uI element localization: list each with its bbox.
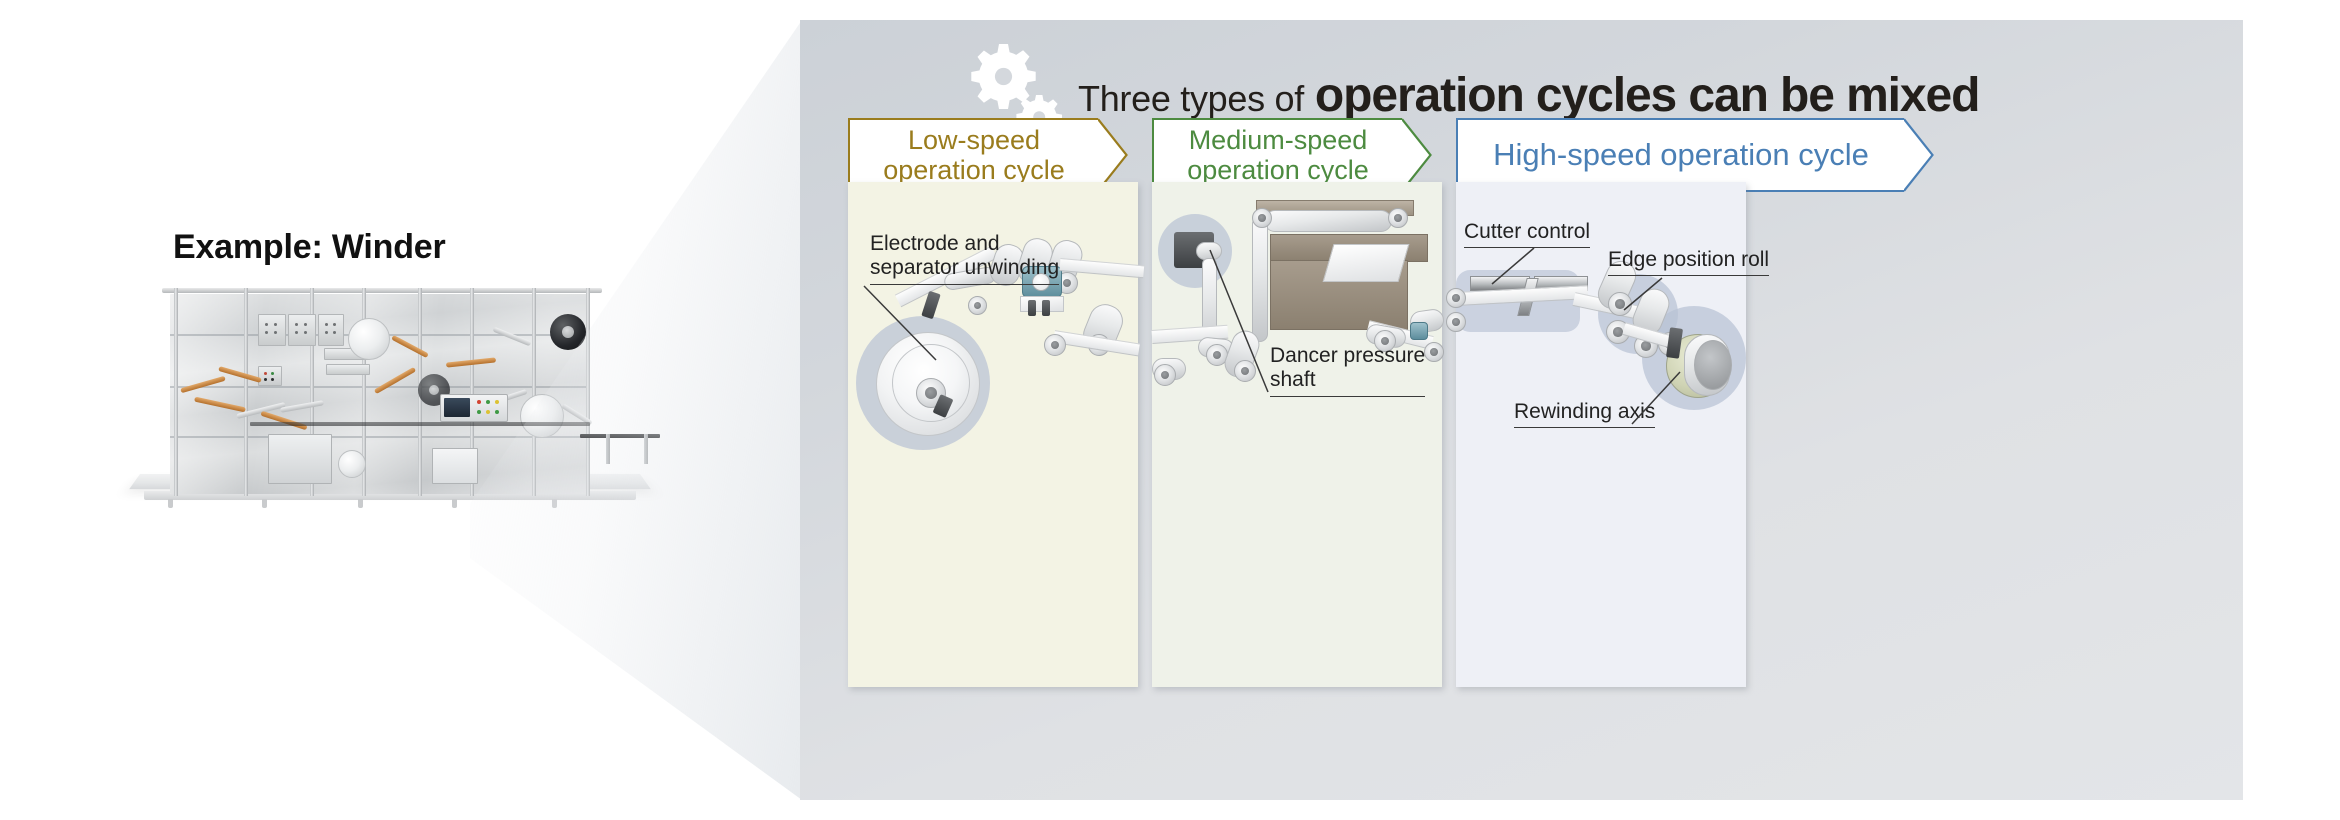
leader-line-rewinding: [1632, 372, 1684, 430]
callout-line-1: Edge position roll: [1608, 248, 1769, 276]
machine-web-roll: [338, 450, 366, 478]
callout-line-2: separator unwinding: [870, 256, 1059, 284]
callout-cutter-control: Cutter control: [1464, 220, 1590, 248]
guide-roll-cap: [968, 296, 987, 315]
callout-line-1: Cutter control: [1464, 220, 1590, 248]
callout-line-1: Electrode and: [870, 232, 1000, 255]
machine-operator-box: [258, 366, 282, 386]
dancer-roll-cap: [1388, 208, 1408, 228]
machine-control-module: [258, 314, 286, 346]
guide-roll-cap: [1154, 364, 1176, 386]
dancer-pressure-plate: [1323, 244, 1410, 282]
tab-low-speed[interactable]: Low-speedoperation cycle: [848, 118, 1098, 192]
leader-line-dancer: [1210, 250, 1280, 398]
tab-low-speed-arrow: [1098, 118, 1128, 192]
tab-low-speed-label: Low-speedoperation cycle: [883, 125, 1065, 185]
example-section: Example: Winder: [0, 0, 800, 820]
guide-roll-cap: [1446, 288, 1466, 308]
machine-foot: [358, 499, 363, 508]
cycle-tabs: Low-speedoperation cycle Medium-speedope…: [848, 118, 2198, 192]
machine-hmi-panel: [440, 394, 508, 422]
machine-frame-post: [244, 288, 248, 496]
tab-high-speed[interactable]: High-speed operation cycle: [1456, 118, 1904, 192]
leader-line-edge-roll: [1624, 278, 1666, 314]
machine-control-module: [318, 314, 344, 346]
dancer-roll-cap: [1252, 208, 1272, 228]
rewinding-roll-face: [1694, 340, 1732, 390]
tab-medium-speed-label: Medium-speedoperation cycle: [1187, 125, 1369, 185]
medium-speed-panel: Dancer pressure shaft: [1152, 182, 1442, 687]
machine-frame-post: [174, 288, 178, 496]
sensor-foot: [1042, 300, 1050, 316]
machine-foot: [452, 499, 457, 508]
machine-cabinet: [268, 434, 332, 484]
edge-sensor: [1410, 322, 1428, 340]
tab-medium-speed-arrow: [1402, 118, 1432, 192]
headline-thin: Three types of: [1078, 78, 1304, 120]
machine-web-roll: [348, 318, 390, 360]
exit-roll-cap: [1424, 342, 1444, 362]
tab-medium-speed[interactable]: Medium-speedoperation cycle: [1152, 118, 1402, 192]
callout-line-2: shaft: [1270, 368, 1425, 396]
page-title: Example: Winder: [173, 228, 446, 267]
callout-electrode-separator-unwinding: Electrode and separator unwinding: [870, 232, 1059, 285]
dancer-top-roll: [1264, 210, 1392, 232]
sensor-foot: [1028, 300, 1036, 316]
callout-dancer-pressure-shaft: Dancer pressure shaft: [1270, 344, 1425, 397]
callout-line-1: Dancer pressure: [1270, 344, 1425, 367]
machine-control-module: [288, 314, 316, 346]
machine-cabinet: [432, 448, 478, 484]
machine-duct: [326, 364, 370, 375]
guide-roll-cap: [1446, 312, 1466, 332]
tab-high-speed-label: High-speed operation cycle: [1493, 138, 1869, 173]
machine-foot: [262, 499, 267, 508]
headline-bold: operation cycles can be mixed: [1315, 68, 1979, 123]
low-speed-panel: Electrode and separator unwinding: [848, 182, 1138, 687]
leader-line-cutter: [1492, 248, 1538, 288]
tab-high-speed-arrow: [1904, 118, 1934, 192]
leader-line-unwinding: [864, 286, 944, 366]
machine-foot: [168, 499, 173, 508]
high-speed-panel: Cutter control Edge position roll Rewind…: [1456, 182, 1746, 687]
dancer-roll-cap: [1044, 334, 1066, 356]
machine-hmi-screen: [444, 398, 470, 417]
callout-edge-position-roll: Edge position roll: [1608, 248, 1769, 276]
machine-top-bar: [162, 288, 602, 293]
